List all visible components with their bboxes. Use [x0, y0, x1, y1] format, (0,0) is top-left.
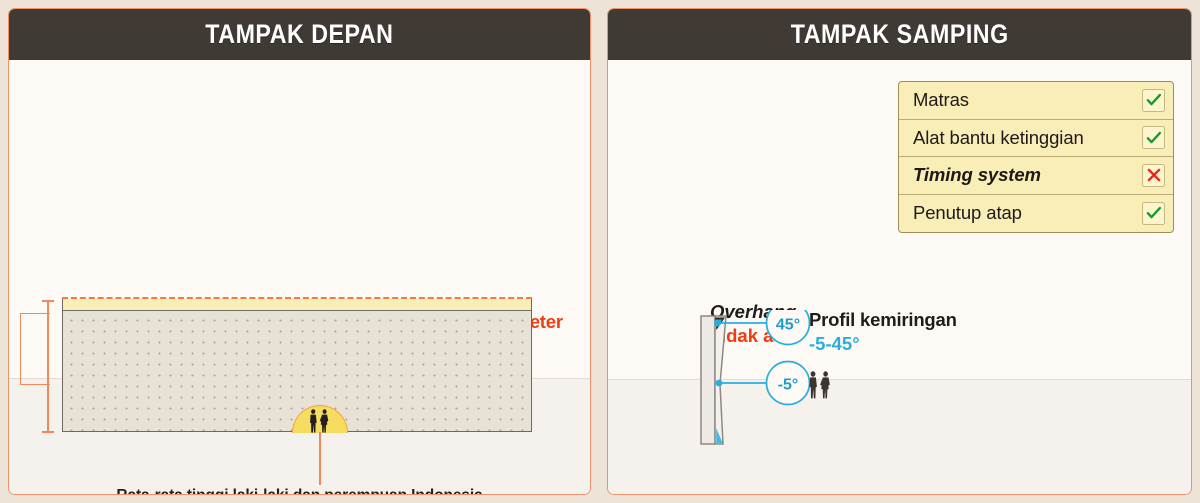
person-male-silhouette-icon [810, 371, 817, 398]
person-female-silhouette-icon [320, 409, 329, 432]
facility-checklist: Matras Alat bantu ketinggian [898, 81, 1174, 233]
panel-side-view-body: Matras Alat bantu ketinggian [608, 60, 1191, 494]
panel-front-view-title: TAMPAK DEPAN [205, 19, 393, 50]
height-dimension-line [47, 300, 49, 433]
wall-cross-section-diagram: 45° -5° [693, 310, 908, 455]
human-scale-figures-side [806, 371, 836, 399]
angle-leader-minus5: -5° [716, 362, 810, 405]
climbing-wall-front [62, 310, 532, 432]
climbing-wall-section [701, 316, 726, 444]
panel-side-view: TAMPAK SAMPING Matras Alat bantu ketingg… [607, 8, 1192, 495]
checklist-item-label: Timing system [913, 164, 1041, 186]
checklist-item-penutup-atap[interactable]: Penutup atap [899, 195, 1173, 233]
caption-leader-line [319, 432, 321, 485]
person-female-silhouette-icon [820, 371, 830, 398]
person-male-silhouette-icon [310, 409, 317, 432]
cross-icon[interactable] [1142, 164, 1165, 187]
panel-side-view-title: TAMPAK SAMPING [791, 19, 1009, 50]
panel-front-view-body: Tinggi 4,5-5 meter Lebar 30 meter [9, 60, 590, 494]
panel-side-view-header: TAMPAK SAMPING [608, 9, 1191, 60]
check-icon[interactable] [1142, 126, 1165, 149]
checklist-item-matras[interactable]: Matras [899, 82, 1173, 120]
angle-leader-45: 45° [714, 310, 809, 345]
angle-label-45: 45° [776, 317, 800, 334]
check-icon[interactable] [1142, 89, 1165, 112]
wall-top-band [62, 299, 532, 310]
human-scale-caption-line1: Rata-rata tinggi laki-laki dan perempuan… [9, 487, 590, 495]
human-scale-caption: Rata-rata tinggi laki-laki dan perempuan… [9, 487, 590, 495]
panel-front-view-header: TAMPAK DEPAN [9, 9, 590, 60]
height-leader-bracket [20, 313, 50, 385]
human-scale-figures-front [307, 409, 335, 433]
checklist-item-label: Penutup atap [913, 202, 1022, 224]
infographic-canvas: TAMPAK DEPAN Tinggi 4,5-5 meter Lebar 30… [0, 0, 1200, 503]
panel-front-view: TAMPAK DEPAN Tinggi 4,5-5 meter Lebar 30… [8, 8, 591, 495]
checklist-item-timing-system[interactable]: Timing system [899, 157, 1173, 195]
angle-label-minus5: -5° [778, 377, 799, 394]
checklist-item-label: Alat bantu ketinggian [913, 127, 1084, 149]
check-icon[interactable] [1142, 202, 1165, 225]
checklist-item-alat-bantu-ketinggian[interactable]: Alat bantu ketinggian [899, 120, 1173, 158]
checklist-item-label: Matras [913, 89, 969, 111]
